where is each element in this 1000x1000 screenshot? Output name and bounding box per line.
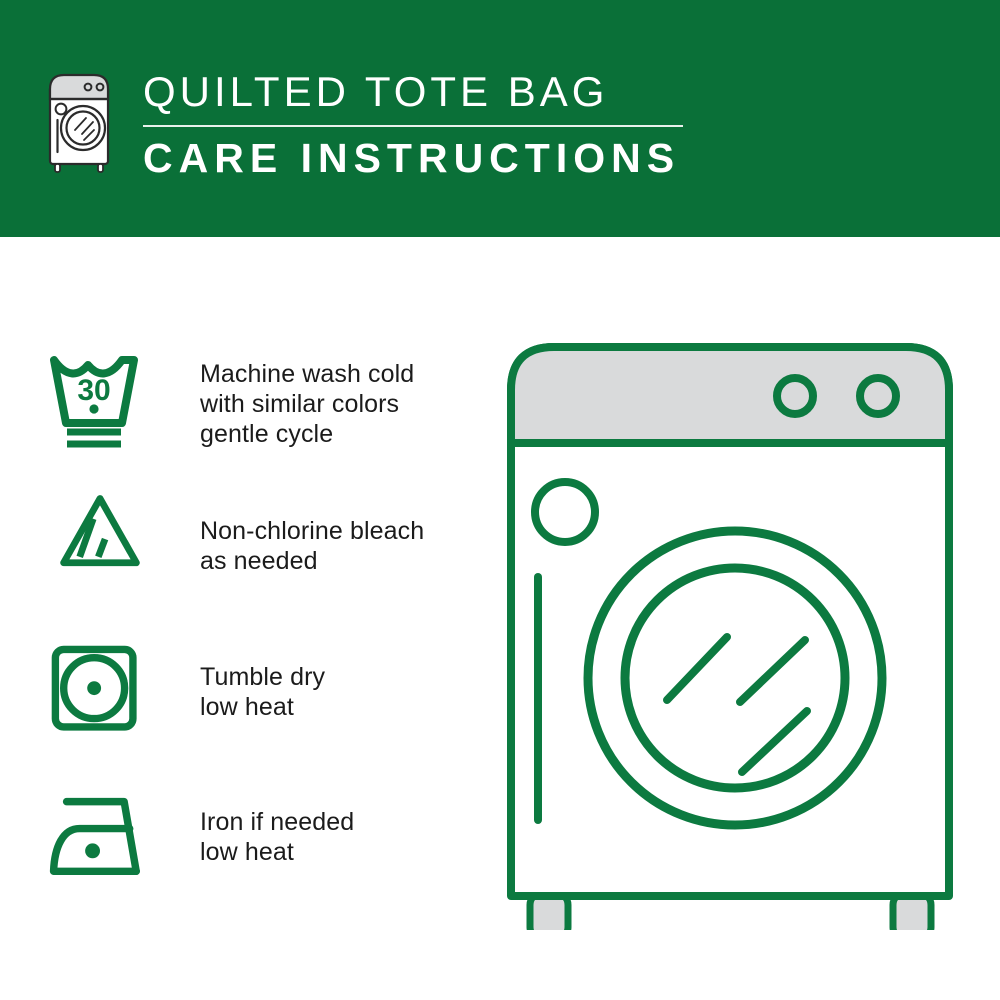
non-chlorine-bleach-icon — [48, 490, 158, 578]
tumble-dry-low-icon — [48, 642, 158, 738]
care-label-machine-wash: Machine wash cold with similar colors ge… — [200, 347, 414, 449]
care-row-tumble-dry: Tumble dry low heat — [0, 642, 470, 738]
title-divider — [143, 125, 683, 127]
washing-machine-icon — [44, 66, 116, 178]
care-label-bleach: Non-chlorine bleach as needed — [200, 490, 424, 576]
machine-wash-30-icon: 30 — [48, 347, 158, 451]
care-instruction-list: 30 Machine wash cold with similar colors… — [0, 237, 470, 1000]
wash-temperature-value: 30 — [77, 374, 110, 407]
machine-knob-left — [777, 378, 813, 414]
iron-low-heat-icon — [48, 793, 158, 879]
care-label-tumble-dry: Tumble dry low heat — [200, 642, 325, 722]
care-row-machine-wash: 30 Machine wash cold with similar colors… — [0, 347, 470, 451]
header-band: QUILTED TOTE BAG CARE INSTRUCTIONS — [0, 0, 1000, 237]
header-text-block: QUILTED TOTE BAG CARE INSTRUCTIONS — [143, 66, 763, 183]
washing-machine-illustration — [495, 330, 965, 930]
care-label-iron: Iron if needed low heat — [200, 793, 354, 867]
machine-door-outer — [588, 531, 882, 825]
care-row-iron: Iron if needed low heat — [0, 793, 470, 879]
care-row-bleach: Non-chlorine bleach as needed — [0, 490, 470, 578]
machine-knob-right — [860, 378, 896, 414]
page-subtitle: CARE INSTRUCTIONS — [143, 133, 763, 183]
care-instructions-infographic: QUILTED TOTE BAG CARE INSTRUCTIONS 30 — [0, 0, 1000, 1000]
page-title: QUILTED TOTE BAG — [143, 66, 763, 118]
